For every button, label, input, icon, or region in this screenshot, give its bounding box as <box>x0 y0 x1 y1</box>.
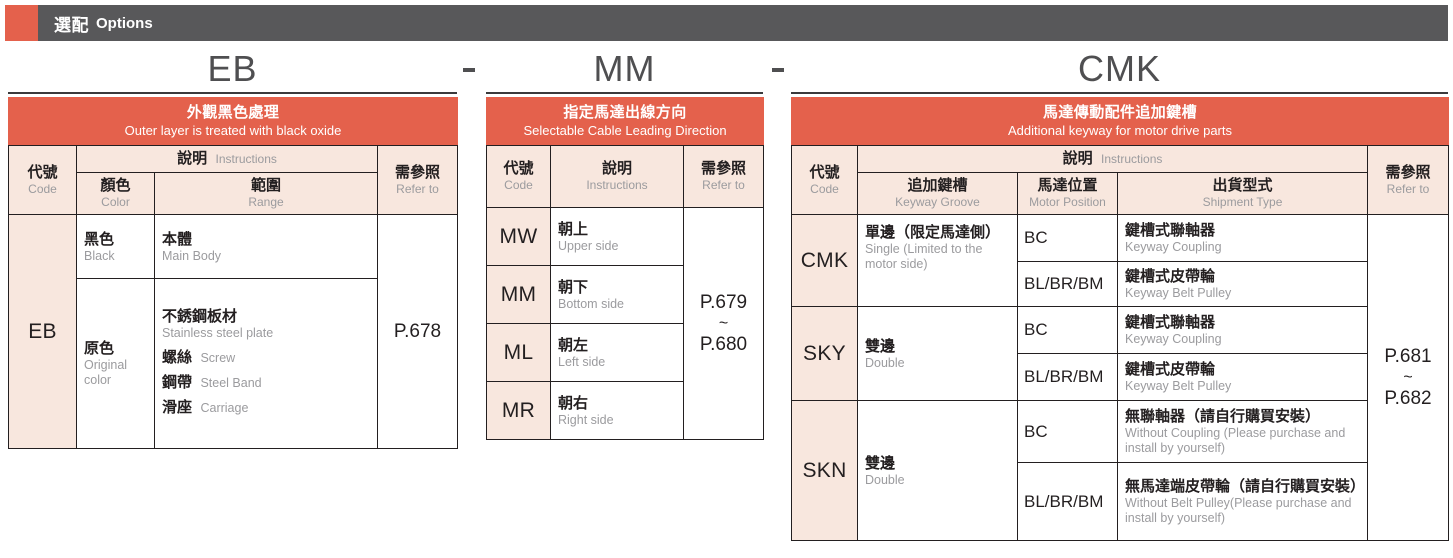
cell-shipment-keyway-coupling: 鍵槽式聯軸器 Keyway Coupling <box>1118 307 1368 354</box>
cell-keyway-single-en: Single (Limited to the motor side) <box>865 242 1010 272</box>
section-rule-cmk <box>791 92 1448 94</box>
range-item-zh: 滑座 <box>162 399 192 416</box>
range-item-zh: 不銹鋼板材 <box>162 307 370 326</box>
header-instructions: 說明 Instructions <box>551 146 684 208</box>
header-color-en: Color <box>80 195 151 210</box>
section-rule-eb <box>8 92 457 94</box>
section-mm: MM 指定馬達出線方向 Selectable Cable Leading Dir… <box>486 48 763 440</box>
cell-shipment-en: Keyway Coupling <box>1125 240 1360 255</box>
header-code-en: Code <box>795 182 854 197</box>
cell-direction-right: 朝右 Right side <box>551 382 684 440</box>
cell-shipment-zh: 鍵槽式聯軸器 <box>1125 221 1360 240</box>
separator-dash-1 <box>463 68 475 72</box>
range-item-en: Steel Band <box>200 376 261 390</box>
cell-shipment-en: Keyway Belt Pulley <box>1125 286 1360 301</box>
table-row: MW 朝上 Upper side P.679 ~ P.680 <box>487 208 764 266</box>
cell-motorpos-blbrbm: BL/BR/BM <box>1018 354 1118 401</box>
range-item-en: Screw <box>200 351 235 365</box>
table-row-header-top: 代號 Code 說明 Instructions 需參照 Refer to <box>792 146 1449 173</box>
cell-keyway-double-zh: 雙邊 <box>865 454 1010 473</box>
range-item: 鋼帶 Steel Band <box>162 370 370 395</box>
cell-keyway-double-sky: 雙邊 Double <box>858 307 1018 401</box>
cell-motorpos-bc: BC <box>1018 215 1118 262</box>
header-shipment-type: 出貨型式 Shipment Type <box>1118 173 1368 215</box>
range-item-zh: 螺絲 <box>162 349 192 366</box>
header-instructions-zh: 說明 <box>554 160 680 178</box>
cell-range-main-body-zh: 本體 <box>162 230 370 249</box>
range-item: 螺絲 Screw <box>162 345 370 370</box>
cell-color-black: 黑色 Black <box>77 215 155 279</box>
cell-direction-upper-en: Upper side <box>558 239 676 254</box>
header-refer-to: 需參照 Refer to <box>684 146 764 208</box>
header-instructions: 說明 Instructions <box>77 146 378 173</box>
range-item: 不銹鋼板材 Stainless steel plate <box>162 307 370 341</box>
range-item-zh: 鋼帶 <box>162 374 192 391</box>
cell-motorpos-blbrbm: BL/BR/BM <box>1018 463 1118 541</box>
header-code: 代號 Code <box>9 146 77 215</box>
cell-shipment-keyway-belt-pulley: 鍵槽式皮帶輪 Keyway Belt Pulley <box>1118 354 1368 401</box>
cell-keyway-double-en: Double <box>865 473 1010 488</box>
cell-direction-upper: 朝上 Upper side <box>551 208 684 266</box>
section-title-cmk: CMK <box>791 48 1448 92</box>
header-range: 範圍 Range <box>155 173 378 215</box>
table-eb-title-en: Outer layer is treated with black oxide <box>13 122 453 139</box>
cell-keyway-double-en: Double <box>865 356 1010 371</box>
cell-refer-eb: P.678 <box>378 215 458 449</box>
cell-shipment-without-belt-pulley: 無馬達端皮帶輪（請自行購買安裝） Without Belt Pulley(Ple… <box>1118 463 1368 541</box>
header-code-en: Code <box>12 182 73 197</box>
table-row-header-top: 代號 Code 說明 Instructions 需參照 Refer to <box>9 146 458 173</box>
cell-code-mw: MW <box>487 208 551 266</box>
cell-refer-cmk: P.681 ~ P.682 <box>1368 215 1449 541</box>
table-mm-title-en: Selectable Cable Leading Direction <box>491 122 759 139</box>
cell-code-ml: ML <box>487 324 551 382</box>
cell-direction-upper-zh: 朝上 <box>558 220 676 239</box>
header-range-zh: 範圍 <box>158 177 374 195</box>
cell-refer-cmk-to: P.682 <box>1368 387 1448 411</box>
table-mm-title-cell: 指定馬達出線方向 Selectable Cable Leading Direct… <box>487 98 764 146</box>
range-item-en: Carriage <box>200 401 248 415</box>
header-instructions-en: Instructions <box>216 152 277 166</box>
header-color: 顏色 Color <box>77 173 155 215</box>
cell-refer-mm-tilde: ~ <box>684 315 763 333</box>
header-motorpos-en: Motor Position <box>1021 195 1114 210</box>
header-code-zh: 代號 <box>12 164 73 182</box>
cell-code-eb: EB <box>9 215 77 449</box>
cell-shipment-en: Keyway Coupling <box>1125 332 1360 347</box>
cell-direction-right-zh: 朝右 <box>558 394 676 413</box>
table-row-header-sub: 追加鍵槽 Keyway Groove 馬達位置 Motor Position 出… <box>792 173 1449 215</box>
cell-code-sky: SKY <box>792 307 858 401</box>
cell-refer-mm-from: P.679 <box>684 291 763 315</box>
cell-shipment-zh: 無馬達端皮帶輪（請自行購買安裝） <box>1125 477 1360 496</box>
cell-shipment-zh: 鍵槽式聯軸器 <box>1125 313 1360 332</box>
header-refer-en: Refer to <box>687 178 760 193</box>
cell-refer-cmk-tilde: ~ <box>1368 369 1448 387</box>
header-keyway-groove: 追加鍵槽 Keyway Groove <box>858 173 1018 215</box>
cell-code-mm: MM <box>487 266 551 324</box>
cell-shipment-without-coupling: 無聯軸器（請自行購買安裝） Without Coupling (Please p… <box>1118 401 1368 463</box>
cell-code-skn: SKN <box>792 401 858 541</box>
range-item-en: Stainless steel plate <box>162 326 370 341</box>
header-refer-en: Refer to <box>381 182 454 197</box>
header-motorpos-zh: 馬達位置 <box>1021 177 1114 195</box>
header-refer-zh: 需參照 <box>687 160 760 178</box>
cell-shipment-en: Without Belt Pulley(Please purchase and … <box>1125 496 1360 526</box>
cell-keyway-single-zh: 單邊（限定馬達側） <box>865 223 1010 242</box>
cell-color-black-zh: 黑色 <box>84 230 147 249</box>
header-refer-to: 需參照 Refer to <box>378 146 458 215</box>
cell-motorpos-bc: BC <box>1018 307 1118 354</box>
cell-direction-left-zh: 朝左 <box>558 336 676 355</box>
banner-body: 選配 Options <box>38 5 1448 41</box>
cell-shipment-zh: 鍵槽式皮帶輪 <box>1125 360 1360 379</box>
cell-shipment-en: Keyway Belt Pulley <box>1125 379 1360 394</box>
table-row-header: 代號 Code 說明 Instructions 需參照 Refer to <box>487 146 764 208</box>
cell-range-list: 不銹鋼板材 Stainless steel plate 螺絲 Screw 鋼帶 … <box>155 279 378 449</box>
section-cmk: CMK 馬達傳動配件追加鍵槽 Additional keyway for mot… <box>791 48 1448 541</box>
header-color-zh: 顏色 <box>80 177 151 195</box>
cell-shipment-zh: 鍵槽式皮帶輪 <box>1125 267 1360 286</box>
header-instructions-en: Instructions <box>554 178 680 193</box>
cell-keyway-single: 單邊（限定馬達側） Single (Limited to the motor s… <box>858 215 1018 307</box>
cell-refer-mm-to: P.680 <box>684 333 763 357</box>
header-motor-position: 馬達位置 Motor Position <box>1018 173 1118 215</box>
table-mm-title-zh: 指定馬達出線方向 <box>491 103 759 122</box>
table-row: CMK 單邊（限定馬達側） Single (Limited to the mot… <box>792 215 1449 262</box>
header-shipment-zh: 出貨型式 <box>1121 177 1364 195</box>
header-code-zh: 代號 <box>490 160 547 178</box>
cell-keyway-double-skn: 雙邊 Double <box>858 401 1018 541</box>
cell-motorpos-bc: BC <box>1018 401 1118 463</box>
table-cmk-title-en: Additional keyway for motor drive parts <box>796 122 1444 139</box>
header-keyway-en: Keyway Groove <box>861 195 1014 210</box>
range-item: 滑座 Carriage <box>162 395 370 420</box>
banner-title-en: Options <box>96 15 153 32</box>
table-cmk: 馬達傳動配件追加鍵槽 Additional keyway for motor d… <box>791 97 1449 541</box>
header-instructions-en: Instructions <box>1101 152 1162 166</box>
cell-shipment-keyway-belt-pulley: 鍵槽式皮帶輪 Keyway Belt Pulley <box>1118 262 1368 307</box>
banner-accent-block <box>5 5 38 41</box>
table-eb-title-zh: 外觀黑色處理 <box>13 103 453 122</box>
header-code-zh: 代號 <box>795 164 854 182</box>
cell-shipment-keyway-coupling: 鍵槽式聯軸器 Keyway Coupling <box>1118 215 1368 262</box>
cell-color-original: 原色 Original color <box>77 279 155 449</box>
cell-direction-bottom-zh: 朝下 <box>558 278 676 297</box>
cell-shipment-zh: 無聯軸器（請自行購買安裝） <box>1125 407 1360 426</box>
cell-refer-mm: P.679 ~ P.680 <box>684 208 764 440</box>
table-eb: 外觀黑色處理 Outer layer is treated with black… <box>8 97 458 449</box>
section-eb: EB 外觀黑色處理 Outer layer is treated with bl… <box>8 48 457 449</box>
cell-direction-right-en: Right side <box>558 413 676 428</box>
table-row-redhead: 馬達傳動配件追加鍵槽 Additional keyway for motor d… <box>792 98 1449 146</box>
cell-direction-bottom: 朝下 Bottom side <box>551 266 684 324</box>
cell-color-black-en: Black <box>84 249 147 264</box>
cell-direction-bottom-en: Bottom side <box>558 297 676 312</box>
section-title-mm: MM <box>486 48 763 92</box>
table-row: EB 黑色 Black 本體 Main Body P.678 <box>9 215 458 279</box>
table-row: SKY 雙邊 Double BC 鍵槽式聯軸器 Keyway Coupling <box>792 307 1449 354</box>
header-instructions-zh: 說明 <box>1063 150 1093 167</box>
cell-range-main-body: 本體 Main Body <box>155 215 378 279</box>
cell-direction-left-en: Left side <box>558 355 676 370</box>
section-rule-mm <box>486 92 763 94</box>
header-code-en: Code <box>490 178 547 193</box>
header-instructions: 說明 Instructions <box>858 146 1368 173</box>
table-row-redhead: 外觀黑色處理 Outer layer is treated with black… <box>9 98 458 146</box>
options-banner: 選配 Options <box>5 5 1448 41</box>
header-range-en: Range <box>158 195 374 210</box>
section-title-eb: EB <box>8 48 457 92</box>
header-keyway-zh: 追加鍵槽 <box>861 177 1014 195</box>
cell-shipment-en: Without Coupling (Please purchase and in… <box>1125 426 1360 456</box>
cell-keyway-double-zh: 雙邊 <box>865 337 1010 356</box>
header-code: 代號 Code <box>487 146 551 208</box>
separator-dash-2 <box>772 68 784 72</box>
table-eb-title-cell: 外觀黑色處理 Outer layer is treated with black… <box>9 98 458 146</box>
table-row: SKN 雙邊 Double BC 無聯軸器（請自行購買安裝） Without C… <box>792 401 1449 463</box>
header-refer-zh: 需參照 <box>381 164 454 182</box>
cell-refer-cmk-from: P.681 <box>1368 345 1448 369</box>
header-code: 代號 Code <box>792 146 858 215</box>
table-mm: 指定馬達出線方向 Selectable Cable Leading Direct… <box>486 97 764 440</box>
banner-title-zh: 選配 <box>54 11 89 36</box>
cell-color-original-zh: 原色 <box>84 339 147 358</box>
header-instructions-zh: 說明 <box>177 150 207 167</box>
header-refer-en: Refer to <box>1371 182 1445 197</box>
header-shipment-en: Shipment Type <box>1121 195 1364 210</box>
header-refer-to: 需參照 Refer to <box>1368 146 1449 215</box>
cell-motorpos-blbrbm: BL/BR/BM <box>1018 262 1118 307</box>
cell-direction-left: 朝左 Left side <box>551 324 684 382</box>
cell-code-mr: MR <box>487 382 551 440</box>
table-cmk-title-cell: 馬達傳動配件追加鍵槽 Additional keyway for motor d… <box>792 98 1449 146</box>
table-cmk-title-zh: 馬達傳動配件追加鍵槽 <box>796 103 1444 122</box>
cell-color-original-en: Original color <box>84 358 147 388</box>
cell-range-main-body-en: Main Body <box>162 249 370 264</box>
cell-code-cmk: CMK <box>792 215 858 307</box>
table-row-redhead: 指定馬達出線方向 Selectable Cable Leading Direct… <box>487 98 764 146</box>
header-refer-zh: 需參照 <box>1371 164 1445 182</box>
